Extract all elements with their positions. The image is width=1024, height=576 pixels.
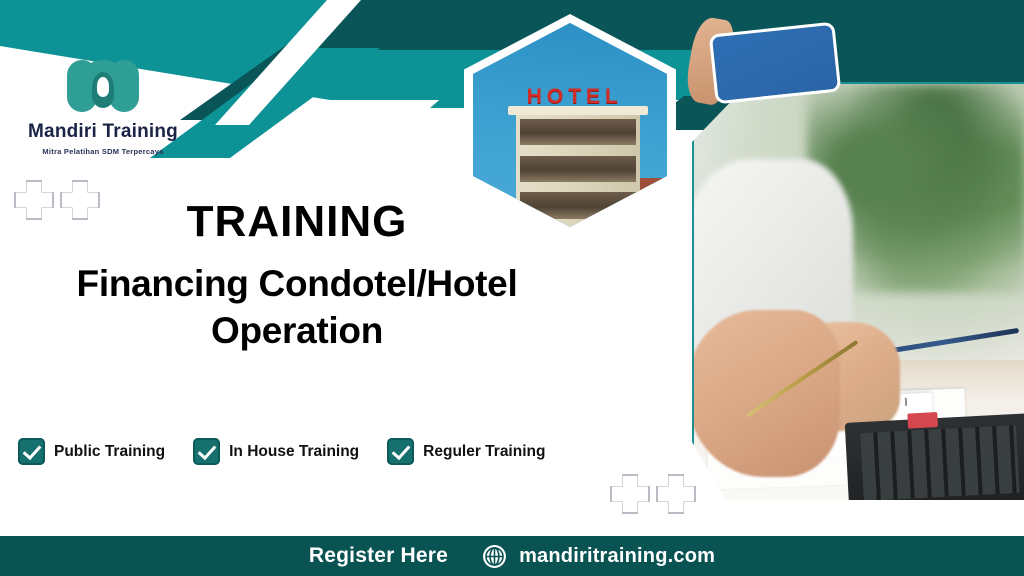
x-mark-decor-icon bbox=[656, 474, 696, 514]
brand-logo: Mandiri Training Mitra Pelatihan SDM Ter… bbox=[18, 58, 188, 156]
tablet-device-photo bbox=[709, 22, 842, 105]
kicker-training: TRAINING bbox=[52, 200, 542, 244]
brand-name: Mandiri Training bbox=[18, 122, 188, 143]
calculator bbox=[844, 414, 1024, 504]
calculator-keys bbox=[860, 425, 1020, 501]
training-type-label: Reguler Training bbox=[423, 443, 545, 461]
checkbox-checked-icon[interactable] bbox=[387, 438, 414, 465]
headline-block: TRAINING Financing Condotel/Hotel Operat… bbox=[52, 200, 542, 355]
hotel-floor-balcony-2 bbox=[520, 156, 636, 183]
hotel-floor-balcony-1 bbox=[520, 119, 636, 146]
header-band-dark-top bbox=[330, 0, 1024, 50]
calculator-red-button bbox=[907, 413, 937, 429]
training-types-list: Public Training In House Training Regule… bbox=[18, 438, 545, 465]
brand-tagline: Mitra Pelatihan SDM Terpercaya bbox=[18, 147, 188, 156]
writing-hand bbox=[692, 310, 840, 477]
globe-icon bbox=[482, 544, 507, 569]
x-mark-decor-icon bbox=[610, 474, 650, 514]
header-band-teal-diagonal bbox=[150, 48, 410, 158]
header-band-teal-left bbox=[0, 0, 420, 46]
register-here-cta[interactable]: Register Here bbox=[309, 544, 448, 568]
logo-drop-shape bbox=[92, 72, 114, 108]
website-url: mandiritraining.com bbox=[519, 545, 715, 568]
training-type-label: In House Training bbox=[229, 443, 359, 461]
decor-x-cluster-right bbox=[610, 474, 696, 514]
training-type-in-house[interactable]: In House Training bbox=[193, 438, 359, 465]
page-title: Financing Condotel/Hotel Operation bbox=[52, 260, 542, 355]
footer-bar: Register Here mandiritraining.com bbox=[0, 536, 1024, 576]
website-link[interactable]: mandiritraining.com bbox=[482, 544, 715, 569]
x-mark-decor-icon bbox=[14, 180, 54, 220]
training-type-label: Public Training bbox=[54, 443, 165, 461]
header-band-white-diagonal bbox=[215, 0, 375, 125]
hotel-sign-text: HOTEL bbox=[527, 85, 623, 109]
mandiri-m-logo-icon bbox=[65, 58, 141, 116]
checkbox-checked-icon[interactable] bbox=[193, 438, 220, 465]
checkbox-checked-icon[interactable] bbox=[18, 438, 45, 465]
training-type-public[interactable]: Public Training bbox=[18, 438, 165, 465]
accounting-photo-panel bbox=[692, 82, 1024, 504]
training-type-reguler[interactable]: Reguler Training bbox=[387, 438, 545, 465]
training-promo-banner: HOTEL Mandiri Training Mitra Pelatihan S… bbox=[0, 0, 1024, 576]
header-band-dark-diagonal bbox=[180, 0, 440, 120]
